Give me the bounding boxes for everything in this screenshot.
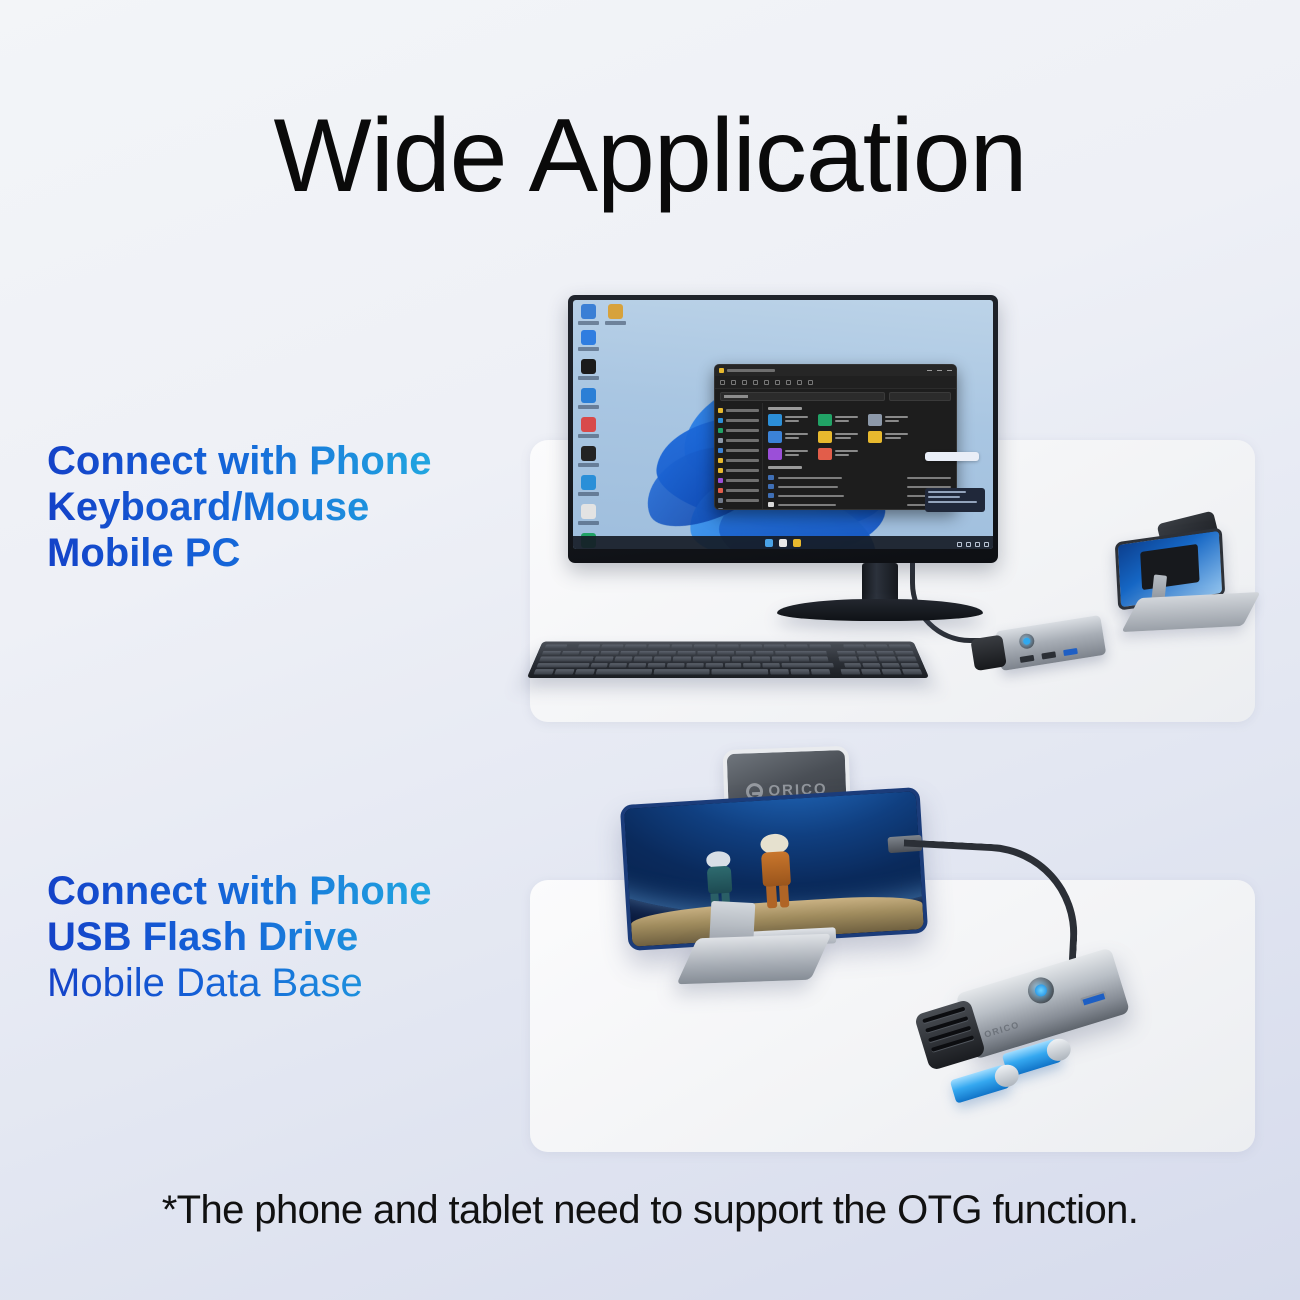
tablet-screen-window bbox=[1141, 544, 1200, 590]
nav-item[interactable] bbox=[718, 476, 759, 484]
taskbar[interactable] bbox=[573, 536, 993, 549]
share-icon[interactable] bbox=[775, 380, 780, 385]
space-wallpaper bbox=[624, 791, 924, 947]
nav-item[interactable] bbox=[718, 446, 759, 454]
taskbar-search-icon[interactable] bbox=[779, 539, 787, 547]
folder-icon bbox=[719, 368, 724, 373]
quick-access-heading bbox=[768, 407, 802, 410]
address-bar[interactable] bbox=[720, 392, 885, 401]
search-input[interactable] bbox=[889, 392, 951, 401]
caption-line: USB Flash Drive bbox=[47, 914, 431, 960]
file-row[interactable] bbox=[768, 500, 951, 509]
nav-item[interactable] bbox=[718, 506, 759, 510]
window-controls[interactable] bbox=[927, 370, 952, 371]
nav-item[interactable] bbox=[718, 496, 759, 504]
taskbar-start-icon[interactable] bbox=[765, 539, 773, 547]
explorer-address-row[interactable] bbox=[715, 389, 956, 403]
stand-base bbox=[1121, 592, 1260, 632]
tablet-stand-top bbox=[1108, 517, 1258, 647]
monitor bbox=[568, 295, 998, 563]
desktop-icon[interactable] bbox=[578, 330, 599, 356]
caption-block-bottom: Connect with Phone USB Flash Drive Mobil… bbox=[47, 868, 431, 1006]
view-icon[interactable] bbox=[808, 380, 813, 385]
astronaut-figure bbox=[760, 833, 793, 911]
desktop-icon[interactable] bbox=[578, 359, 599, 385]
folder-tile[interactable] bbox=[768, 431, 808, 443]
caption-line: Mobile Data Base bbox=[47, 960, 431, 1006]
nav-item[interactable] bbox=[718, 466, 759, 474]
scene-desktop-setup bbox=[480, 295, 1280, 725]
monitor-screen bbox=[573, 300, 993, 549]
desktop-icon[interactable] bbox=[578, 417, 599, 443]
phone-screen-device[interactable] bbox=[620, 787, 928, 951]
rename-icon[interactable] bbox=[764, 380, 769, 385]
folder-tile[interactable] bbox=[818, 414, 858, 426]
quick-access-tiles bbox=[768, 414, 951, 460]
caption-line: Keyboard/Mouse bbox=[47, 484, 431, 530]
file-row[interactable] bbox=[768, 491, 951, 500]
page-title: Wide Application bbox=[0, 104, 1300, 208]
floating-toolbar[interactable] bbox=[925, 452, 979, 461]
folder-tile[interactable] bbox=[768, 414, 808, 426]
file-row[interactable] bbox=[768, 509, 951, 510]
paste-icon[interactable] bbox=[753, 380, 758, 385]
stand-base-plate bbox=[677, 934, 832, 985]
nav-item[interactable] bbox=[718, 456, 759, 464]
delete-icon[interactable] bbox=[786, 380, 791, 385]
folder-tile[interactable] bbox=[818, 448, 858, 460]
nav-item[interactable] bbox=[718, 416, 759, 424]
file-row[interactable] bbox=[768, 482, 951, 491]
desktop-icon[interactable] bbox=[578, 446, 599, 472]
desktop-icon[interactable] bbox=[578, 304, 599, 330]
explorer-titlebar bbox=[715, 365, 956, 376]
nav-item[interactable] bbox=[718, 426, 759, 434]
sort-icon[interactable] bbox=[797, 380, 802, 385]
monitor-stand-neck bbox=[862, 563, 898, 603]
desktop-icon[interactable] bbox=[578, 475, 599, 501]
file-row[interactable] bbox=[768, 473, 951, 482]
explorer-nav-pane[interactable] bbox=[715, 403, 763, 510]
nav-item[interactable] bbox=[718, 406, 759, 414]
folder-tile[interactable] bbox=[868, 431, 908, 443]
hub-end-cap bbox=[970, 635, 1007, 672]
notification-popup[interactable] bbox=[925, 488, 985, 512]
file-explorer-window[interactable] bbox=[714, 364, 957, 510]
monitor-stand-base bbox=[777, 599, 983, 621]
recent-files-heading bbox=[768, 466, 802, 469]
explorer-title-text bbox=[727, 369, 775, 372]
cut-icon[interactable] bbox=[731, 380, 736, 385]
new-icon[interactable] bbox=[720, 380, 725, 385]
explorer-toolbar[interactable] bbox=[715, 376, 956, 389]
caption-line: Mobile PC bbox=[47, 530, 431, 576]
scene-phone-hub-setup: ORICO bbox=[600, 740, 1260, 1160]
footnote-text: *The phone and tablet need to support th… bbox=[0, 1188, 1300, 1233]
caption-line: Connect with Phone bbox=[47, 868, 431, 914]
system-tray[interactable] bbox=[957, 542, 989, 547]
desktop-icon[interactable] bbox=[578, 504, 599, 530]
folder-tile[interactable] bbox=[818, 431, 858, 443]
desktop-icon[interactable] bbox=[605, 304, 626, 330]
folder-tile[interactable] bbox=[868, 414, 908, 426]
caption-block-top: Connect with Phone Keyboard/Mouse Mobile… bbox=[47, 438, 431, 576]
copy-icon[interactable] bbox=[742, 380, 747, 385]
folder-tile[interactable] bbox=[768, 448, 808, 460]
nav-item[interactable] bbox=[718, 436, 759, 444]
desktop-icon-column bbox=[578, 304, 632, 549]
nav-item[interactable] bbox=[718, 486, 759, 494]
desktop-icon[interactable] bbox=[578, 388, 599, 414]
caption-line: Connect with Phone bbox=[47, 438, 431, 484]
recent-files-list bbox=[768, 473, 951, 510]
explorer-body bbox=[715, 403, 956, 510]
taskbar-explorer-icon[interactable] bbox=[793, 539, 801, 547]
keyboard[interactable] bbox=[527, 641, 930, 678]
